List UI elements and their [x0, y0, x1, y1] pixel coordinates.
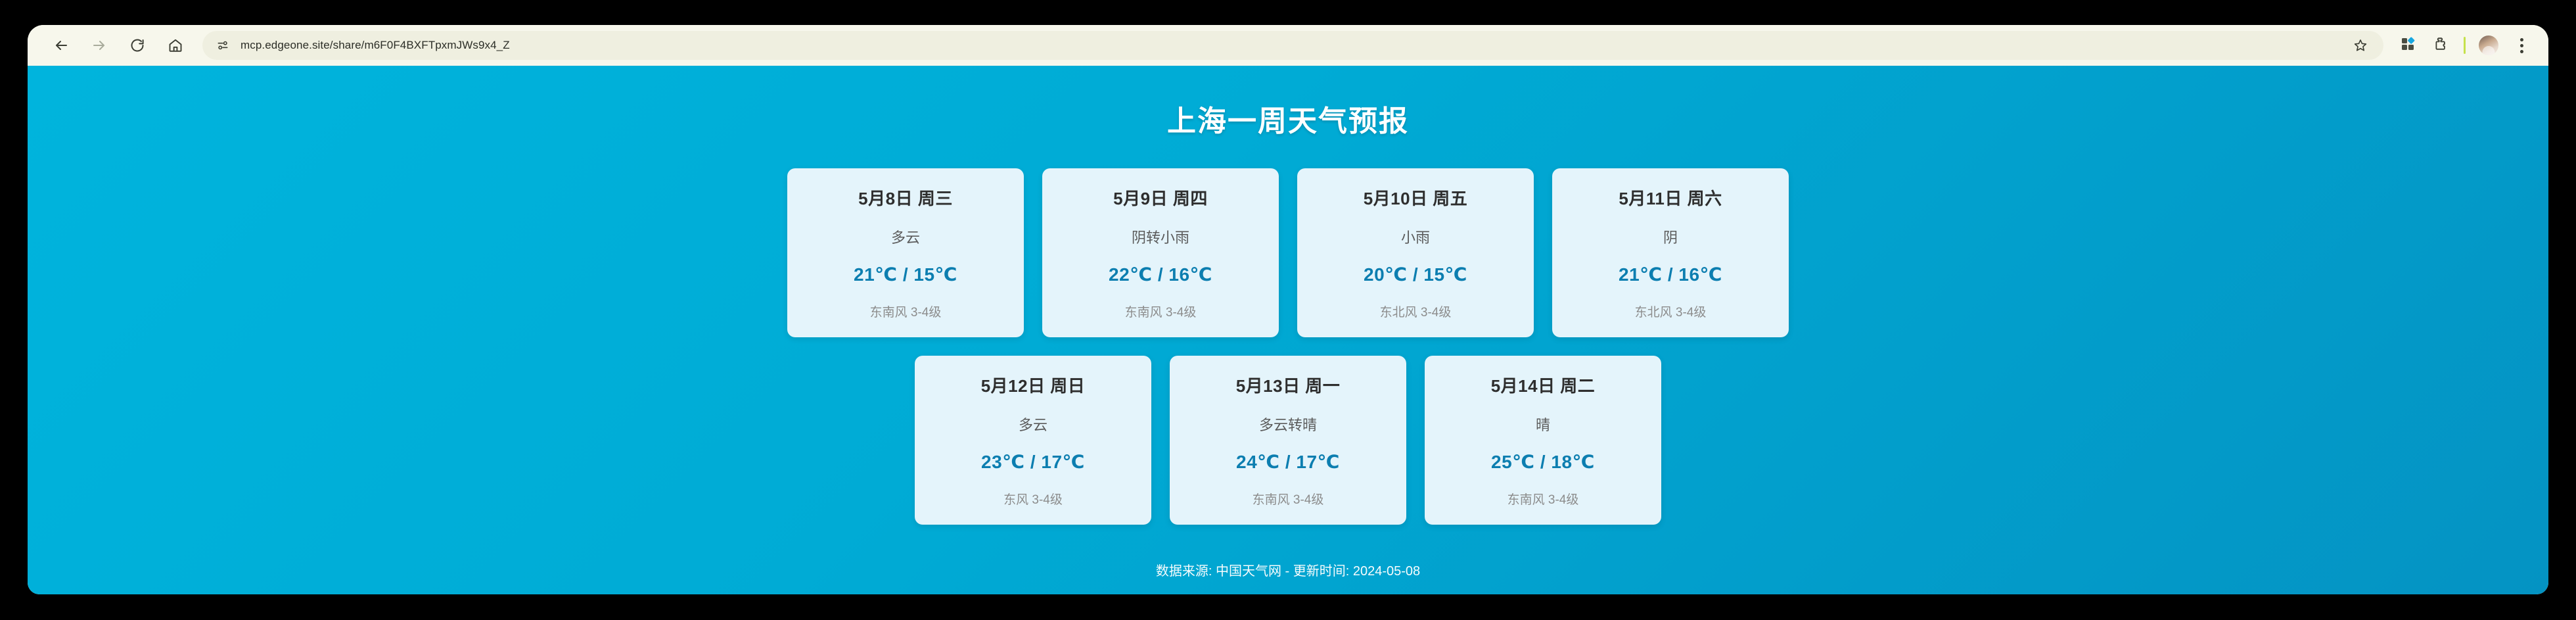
back-button[interactable] [42, 26, 80, 64]
card-temperature: 21℃ / 16℃ [1564, 264, 1777, 285]
reload-button[interactable] [118, 26, 156, 64]
card-temperature: 25℃ / 18℃ [1437, 451, 1649, 473]
page-footer: 数据来源: 中国天气网 - 更新时间: 2024-05-08 [28, 560, 2548, 579]
reload-icon [129, 37, 145, 53]
extensions-puzzle-icon [2433, 36, 2449, 55]
weather-card: 5月12日 周日 多云 23℃ / 17℃ 东风 3-4级 [915, 356, 1151, 525]
card-date: 5月9日 周四 [1054, 185, 1267, 210]
weather-card: 5月11日 周六 阴 21℃ / 16℃ 东北风 3-4级 [1552, 168, 1789, 337]
profile-avatar [2479, 36, 2498, 55]
card-date: 5月11日 周六 [1564, 185, 1777, 210]
card-date: 5月10日 周五 [1309, 185, 1522, 210]
toolbar-right-actions [2393, 30, 2537, 60]
bookmark-star-icon[interactable] [2349, 34, 2372, 57]
google-apps-button[interactable] [2393, 30, 2423, 60]
extensions-button[interactable] [2426, 30, 2456, 60]
card-condition: 多云转晴 [1182, 414, 1394, 435]
card-wind: 东南风 3-4级 [1437, 490, 1649, 508]
card-date: 5月14日 周二 [1437, 373, 1649, 397]
card-temperature: 21℃ / 15℃ [799, 264, 1012, 285]
weather-card: 5月14日 周二 晴 25℃ / 18℃ 东南风 3-4级 [1425, 356, 1661, 525]
card-condition: 晴 [1437, 414, 1649, 435]
forecast-grid: 5月8日 周三 多云 21℃ / 15℃ 东南风 3-4级 5月9日 周四 阴转… [28, 139, 2548, 525]
card-temperature: 23℃ / 17℃ [927, 451, 1139, 473]
card-condition: 多云 [799, 226, 1012, 247]
toolbar-divider [2464, 37, 2466, 54]
home-icon [168, 37, 183, 53]
forward-button[interactable] [80, 26, 118, 64]
card-wind: 东南风 3-4级 [799, 302, 1012, 320]
card-condition: 多云 [927, 414, 1139, 435]
google-apps-grid-icon [2400, 36, 2416, 55]
card-date: 5月12日 周日 [927, 373, 1139, 397]
card-condition: 阴转小雨 [1054, 226, 1267, 247]
home-button[interactable] [156, 26, 195, 64]
weather-card: 5月8日 周三 多云 21℃ / 15℃ 东南风 3-4级 [787, 168, 1024, 337]
card-condition: 小雨 [1309, 226, 1522, 247]
card-condition: 阴 [1564, 226, 1777, 247]
card-wind: 东北风 3-4级 [1564, 302, 1777, 320]
profile-button[interactable] [2473, 30, 2504, 60]
card-temperature: 22℃ / 16℃ [1054, 264, 1267, 285]
browser-toolbar: mcp.edgeone.site/share/m6F0F4BXFTpxmJWs9… [28, 25, 2548, 66]
card-wind: 东南风 3-4级 [1182, 490, 1394, 508]
page-viewport: 上海一周天气预报 5月8日 周三 多云 21℃ / 15℃ 东南风 3-4级 5… [28, 66, 2548, 594]
weather-card: 5月10日 周五 小雨 20℃ / 15℃ 东北风 3-4级 [1297, 168, 1534, 337]
chrome-menu-button[interactable] [2506, 30, 2537, 60]
forward-arrow-icon [91, 37, 107, 53]
back-arrow-icon [53, 37, 69, 53]
weather-card: 5月13日 周一 多云转晴 24℃ / 17℃ 东南风 3-4级 [1170, 356, 1406, 525]
card-wind: 东南风 3-4级 [1054, 302, 1267, 320]
card-wind: 东风 3-4级 [927, 490, 1139, 508]
three-dot-menu-icon [2520, 38, 2523, 53]
card-wind: 东北风 3-4级 [1309, 302, 1522, 320]
weather-card: 5月9日 周四 阴转小雨 22℃ / 16℃ 东南风 3-4级 [1042, 168, 1279, 337]
address-bar-url[interactable]: mcp.edgeone.site/share/m6F0F4BXFTpxmJWs9… [241, 39, 510, 52]
page-title: 上海一周天气预报 [28, 66, 2548, 139]
address-bar[interactable]: mcp.edgeone.site/share/m6F0F4BXFTpxmJWs9… [202, 31, 2383, 60]
card-date: 5月8日 周三 [799, 185, 1012, 210]
site-settings-icon[interactable] [214, 37, 231, 54]
card-date: 5月13日 周一 [1182, 373, 1394, 397]
card-temperature: 20℃ / 15℃ [1309, 264, 1522, 285]
card-temperature: 24℃ / 17℃ [1182, 451, 1394, 473]
browser-window: mcp.edgeone.site/share/m6F0F4BXFTpxmJWs9… [28, 25, 2548, 594]
